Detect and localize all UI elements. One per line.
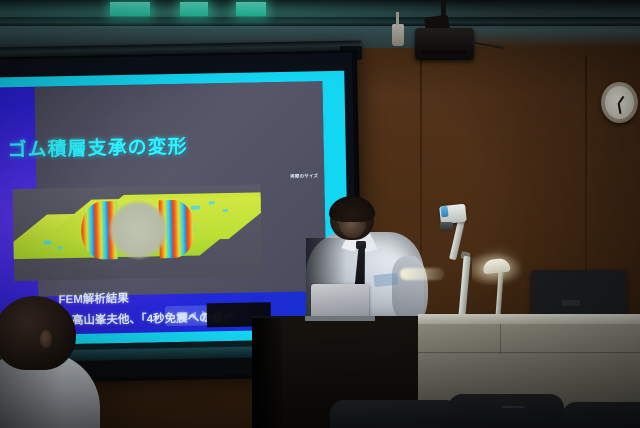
fem-result-figure bbox=[12, 184, 262, 281]
podium-monitor[interactable] bbox=[531, 270, 627, 319]
presenter-shirt-pocket bbox=[373, 273, 398, 287]
counter-seam bbox=[418, 352, 640, 353]
seat-center bbox=[448, 394, 564, 428]
counter-seam bbox=[500, 324, 501, 354]
lamp-light-spill bbox=[400, 268, 444, 280]
laptop-base bbox=[305, 316, 375, 321]
wall-clock bbox=[601, 82, 638, 123]
presenter-arm bbox=[392, 256, 428, 318]
document-camera-indicator bbox=[440, 206, 448, 218]
laptop[interactable] bbox=[311, 284, 369, 318]
seat-highlight bbox=[502, 406, 524, 408]
fem-speck bbox=[43, 240, 51, 244]
projector bbox=[415, 28, 474, 60]
slide-background: ゴム積層支承の変形 実際 bbox=[0, 81, 327, 335]
fem-speck bbox=[191, 206, 200, 210]
seat-left bbox=[330, 400, 460, 428]
camera-lens-icon bbox=[440, 222, 453, 231]
podium-shadow bbox=[252, 318, 282, 428]
fem-speck bbox=[209, 201, 215, 204]
slide-image-note: 実際のサイズ bbox=[290, 173, 318, 180]
slide-title: ゴム積層支承の変形 bbox=[7, 132, 188, 162]
rewind-icon[interactable]: ◀◀ bbox=[179, 310, 196, 321]
sprinkler-head-icon bbox=[392, 24, 404, 46]
clock-minute-hand bbox=[618, 103, 621, 114]
clock-face bbox=[605, 86, 634, 119]
seat-right bbox=[562, 402, 640, 428]
slide-caption-fem: FEM解析結果 bbox=[58, 290, 129, 307]
clock-hour-hand bbox=[618, 96, 624, 104]
audience-ear bbox=[40, 330, 52, 348]
fem-speck bbox=[223, 209, 228, 212]
lecture-hall-photo: ゴム積層支承の変形 実際 bbox=[0, 0, 640, 428]
monitor-brand-badge bbox=[562, 300, 580, 306]
fem-speck bbox=[58, 246, 63, 249]
